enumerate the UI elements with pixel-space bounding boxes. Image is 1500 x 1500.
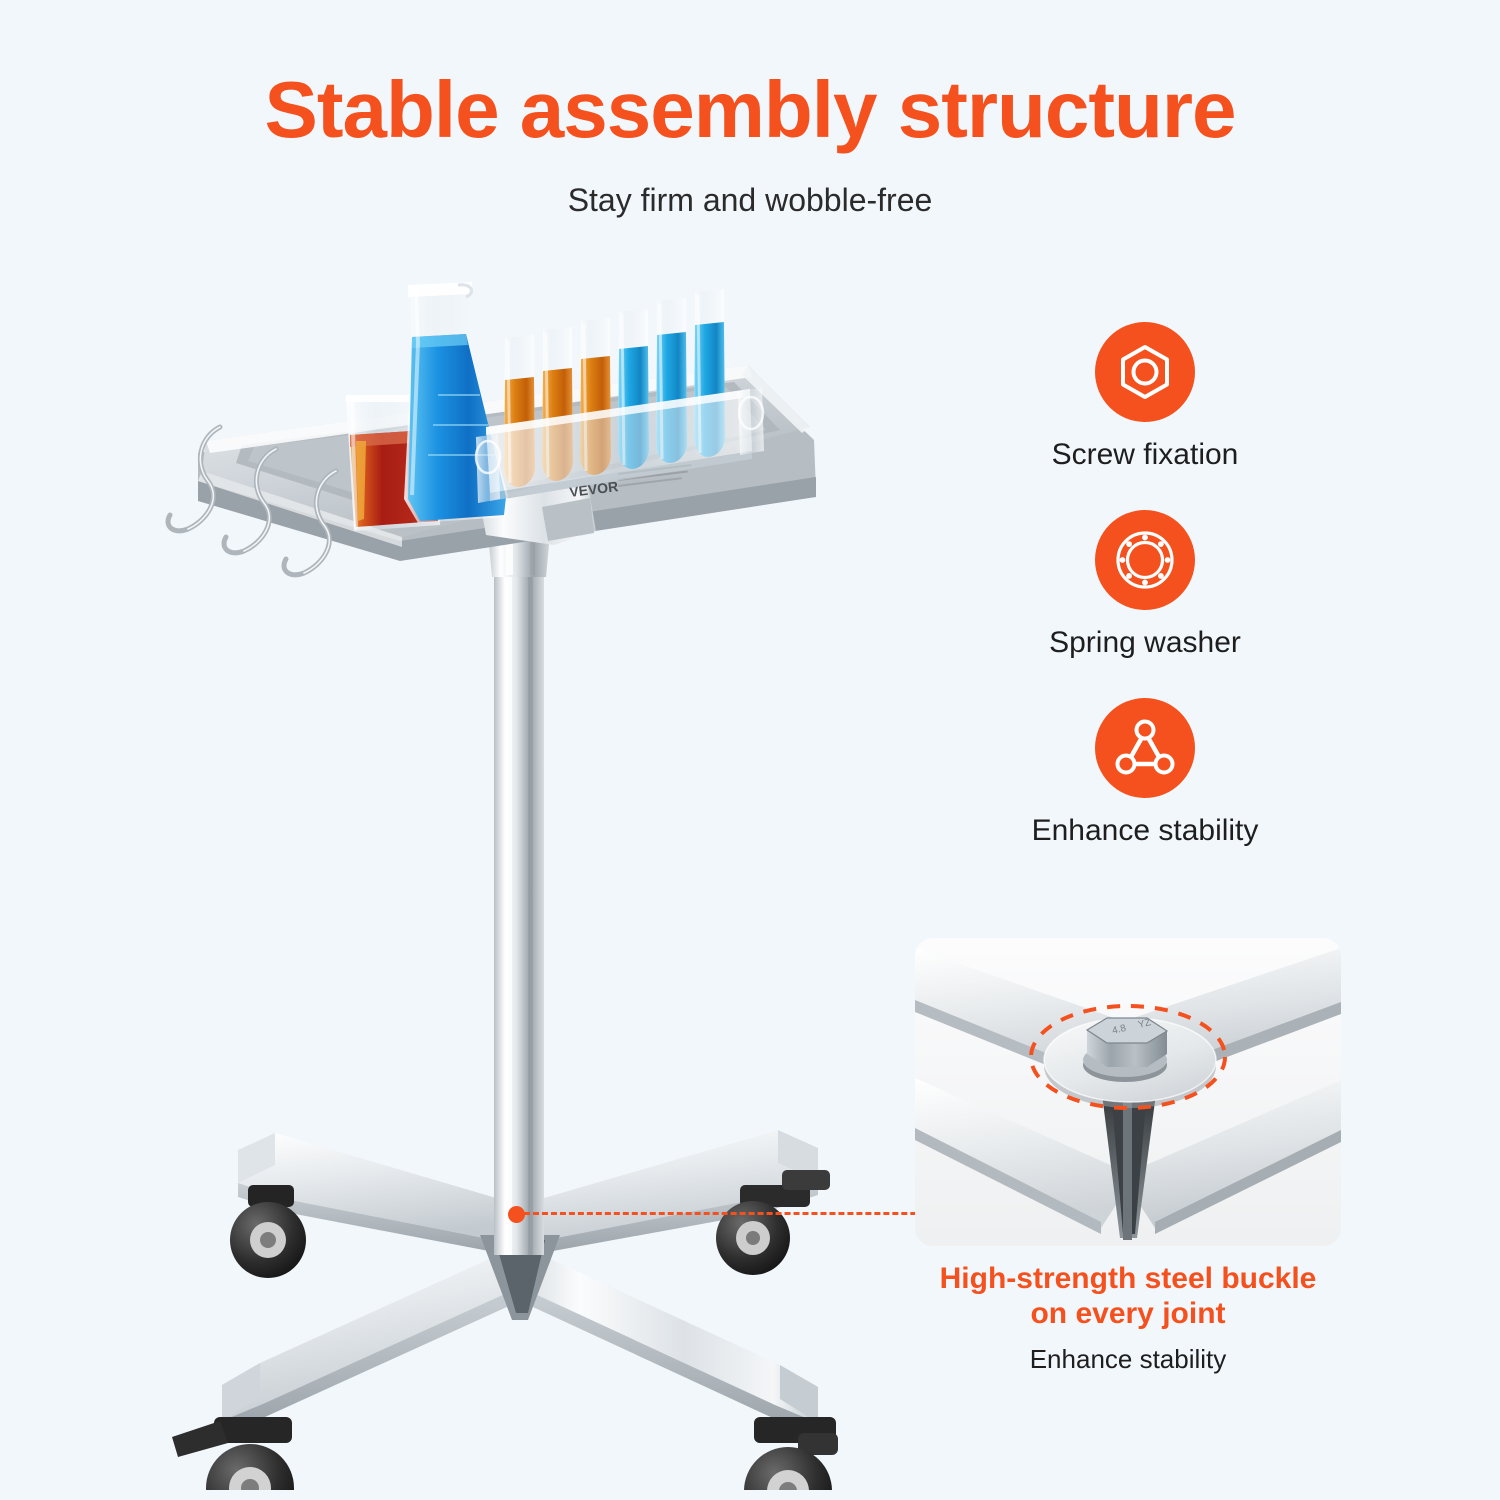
detail-photo-panel: 4.8 YZ — [915, 938, 1341, 1246]
caster-front-left-braked — [172, 1417, 294, 1490]
page-subtitle: Stay firm and wobble-free — [0, 182, 1500, 219]
feature-label: Screw fixation — [985, 438, 1305, 472]
detail-caption-line2: on every joint — [905, 1297, 1351, 1332]
product-illustration: VEVOR — [150, 245, 910, 1490]
detail-caption-line1: High-strength steel buckle — [905, 1262, 1351, 1297]
hex-bolt: 4.8 YZ — [1083, 1017, 1167, 1082]
telescoping-pole — [486, 507, 552, 1255]
feature-label: Spring washer — [985, 626, 1305, 660]
callout-anchor-dot — [508, 1206, 525, 1223]
spring-washer-icon — [1095, 510, 1195, 610]
detail-caption-subtitle: Enhance stability — [905, 1344, 1351, 1375]
page-title: Stable assembly structure — [0, 68, 1500, 152]
feature-list: Screw fixation Spring washer — [985, 322, 1305, 886]
feature-enhance-stability[interactable]: Enhance stability — [985, 698, 1305, 848]
caster-front-right-braked — [744, 1417, 838, 1490]
feature-label: Enhance stability — [985, 814, 1305, 848]
hex-nut-icon — [1095, 322, 1195, 422]
feature-spring-washer[interactable]: Spring washer — [985, 510, 1305, 660]
triangle-nodes-icon — [1095, 698, 1195, 798]
product-feature-page: Stable assembly structure Stay firm and … — [0, 0, 1500, 1500]
feature-screw-fixation[interactable]: Screw fixation — [985, 322, 1305, 472]
detail-caption: High-strength steel buckle on every join… — [905, 1262, 1351, 1375]
